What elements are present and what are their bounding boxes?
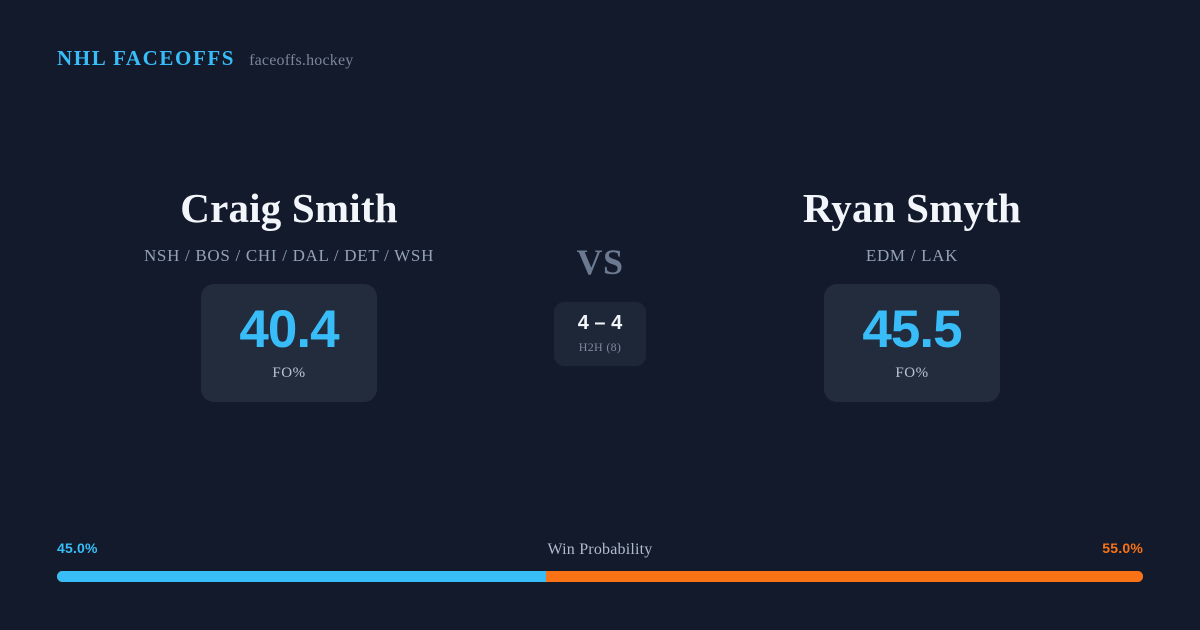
versus-label: VS <box>576 244 623 280</box>
win-probability-bar <box>57 571 1143 582</box>
win-probability-right-value: 55.0% <box>1102 540 1143 556</box>
win-probability-title: Win Probability <box>547 541 652 559</box>
win-probability-bar-right-fill <box>546 571 1143 582</box>
stat-value-right: 45.5 <box>862 303 961 356</box>
stat-value-left: 40.4 <box>239 303 338 356</box>
brand-bar: NHL FACEOFFS faceoffs.hockey <box>57 46 354 71</box>
player-panel-left: Craig Smith NSH / BOS / CHI / DAL / DET … <box>49 186 529 402</box>
head-to-head-card: 4 – 4 H2H (8) <box>554 302 646 366</box>
player-name-left: Craig Smith <box>180 186 397 232</box>
win-probability-bar-left-fill <box>57 571 546 582</box>
player-teams-left: NSH / BOS / CHI / DAL / DET / WSH <box>144 246 434 266</box>
brand-domain: faceoffs.hockey <box>249 52 353 70</box>
stat-label-right: FO% <box>895 365 928 382</box>
brand-title: NHL FACEOFFS <box>57 46 235 71</box>
win-probability-section: 45.0% Win Probability 55.0% <box>57 540 1143 582</box>
stat-card-left: 40.4 FO% <box>201 284 377 402</box>
versus-column: VS 4 – 4 H2H (8) <box>500 244 700 366</box>
win-probability-left-value: 45.0% <box>57 540 98 556</box>
player-teams-right: EDM / LAK <box>866 246 958 266</box>
head-to-head-label: H2H (8) <box>579 340 621 355</box>
stat-label-left: FO% <box>272 365 305 382</box>
win-probability-labels: 45.0% Win Probability 55.0% <box>57 540 1143 562</box>
stat-card-right: 45.5 FO% <box>824 284 1000 402</box>
player-panel-right: Ryan Smyth EDM / LAK 45.5 FO% <box>672 186 1152 402</box>
player-name-right: Ryan Smyth <box>803 186 1021 232</box>
head-to-head-score: 4 – 4 <box>578 313 622 333</box>
matchup-section: Craig Smith NSH / BOS / CHI / DAL / DET … <box>0 186 1200 426</box>
